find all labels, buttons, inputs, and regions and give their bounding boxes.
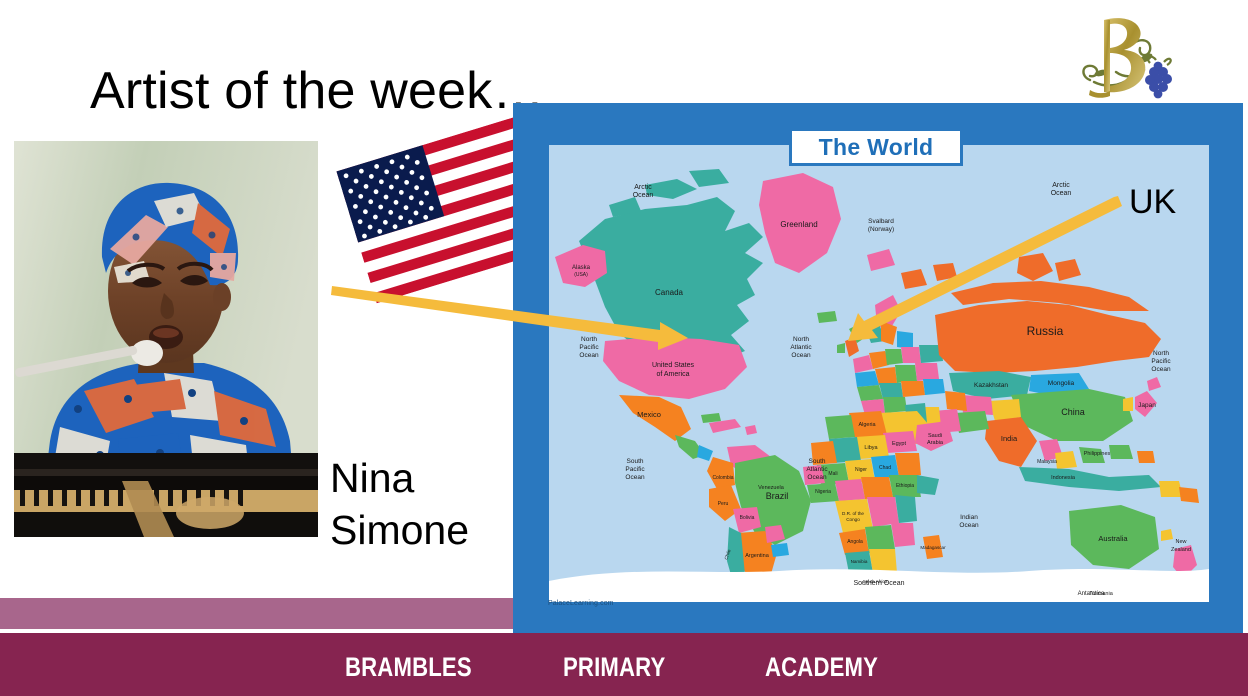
svg-text:Peru: Peru (718, 501, 729, 507)
brambles-logo (1060, 6, 1180, 110)
world-map-image: Arctic Ocean Arctic Ocean Greenland Sval… (549, 145, 1209, 602)
svg-text:North: North (581, 336, 597, 343)
svg-text:Brazil: Brazil (766, 491, 789, 501)
svg-text:(Norway): (Norway) (868, 226, 894, 233)
footer-word-academy: ACADEMY (765, 652, 878, 683)
artist-name: Nina Simone (330, 452, 540, 557)
artist-name-line1: Nina (330, 452, 540, 504)
svg-text:Pacific: Pacific (579, 344, 599, 351)
svg-text:Philippines: Philippines (1084, 451, 1111, 457)
svg-text:Svalbard: Svalbard (868, 218, 894, 225)
svg-text:Arctic: Arctic (634, 184, 652, 191)
artist-photo (14, 141, 318, 537)
svg-text:Atlantic: Atlantic (790, 344, 812, 351)
svg-text:Ocean: Ocean (1051, 190, 1072, 197)
svg-text:Arabia: Arabia (927, 440, 944, 446)
svg-text:Indonesia: Indonesia (1051, 475, 1076, 481)
svg-text:Bolivia: Bolivia (740, 515, 755, 521)
map-title-text: The World (819, 134, 934, 161)
svg-text:Alaska: Alaska (572, 265, 591, 271)
svg-text:Ocean: Ocean (807, 474, 827, 481)
svg-text:Kazakhstan: Kazakhstan (974, 382, 1008, 389)
svg-text:India: India (1001, 434, 1018, 443)
country-botswana (869, 549, 897, 573)
svg-text:North: North (1153, 350, 1169, 357)
svg-text:of America: of America (656, 371, 689, 378)
footer-school-name: BRAMBLES PRIMARY ACADEMY (0, 633, 1248, 696)
bramble-berry-icon (1145, 56, 1172, 98)
slide-canvas: Artist of the week… (0, 0, 1248, 696)
footer-word-primary: PRIMARY (563, 652, 665, 683)
svg-text:Ocean: Ocean (791, 352, 811, 359)
svg-text:Algeria: Algeria (858, 422, 876, 428)
svg-text:North: North (793, 336, 809, 343)
svg-text:Mongolia: Mongolia (1048, 380, 1075, 387)
svg-text:Ocean: Ocean (633, 192, 654, 199)
svg-text:South: South (627, 458, 644, 465)
svg-text:Pacific: Pacific (1151, 358, 1171, 365)
svg-text:Southern Ocean: Southern Ocean (854, 580, 905, 587)
svg-text:Ocean: Ocean (959, 522, 979, 529)
uk-label: UK (1129, 183, 1176, 222)
svg-text:Congo: Congo (846, 517, 860, 522)
svg-text:Australia: Australia (1098, 534, 1128, 543)
artist-name-line2: Simone (330, 504, 540, 556)
svg-text:Arctic: Arctic (1052, 182, 1070, 189)
svg-text:Canada: Canada (655, 288, 684, 297)
footer-word-brambles: BRAMBLES (345, 652, 472, 683)
svg-text:Japan: Japan (1138, 402, 1156, 409)
svg-text:Nigeria: Nigeria (815, 489, 831, 495)
svg-text:Antarctica: Antarctica (1078, 591, 1105, 597)
map-title-badge: The World (789, 128, 963, 166)
svg-text:Egypt: Egypt (892, 441, 907, 447)
page-title: Artist of the week… (90, 62, 545, 120)
footer-accent-band (0, 598, 513, 629)
svg-text:New: New (1175, 539, 1186, 545)
svg-text:Zealand: Zealand (1171, 547, 1191, 553)
svg-text:Ocean: Ocean (625, 474, 645, 481)
svg-text:D.R. of the: D.R. of the (842, 511, 864, 516)
svg-text:Pacific: Pacific (625, 466, 645, 473)
svg-text:Argentina: Argentina (745, 553, 769, 559)
svg-text:(USA): (USA) (574, 272, 588, 278)
svg-text:Chad: Chad (879, 465, 891, 471)
svg-text:Saudi: Saudi (928, 433, 942, 439)
svg-text:Ocean: Ocean (579, 352, 599, 359)
svg-text:Libya: Libya (864, 445, 878, 451)
svg-text:Malaysia: Malaysia (1037, 459, 1057, 465)
svg-text:Mali: Mali (828, 471, 837, 477)
map-credit: PalaceLearning.com (548, 600, 614, 607)
svg-text:Niger: Niger (855, 467, 867, 473)
svg-text:Indian: Indian (960, 514, 978, 521)
svg-text:Madagascar: Madagascar (920, 545, 946, 550)
svg-text:South: South (809, 458, 826, 465)
svg-text:Atlantic: Atlantic (806, 466, 828, 473)
svg-text:Colombia: Colombia (712, 475, 733, 481)
svg-text:United States: United States (652, 362, 695, 369)
svg-text:Greenland: Greenland (780, 220, 817, 229)
svg-text:China: China (1061, 407, 1085, 417)
svg-text:Ocean: Ocean (1151, 366, 1171, 373)
svg-text:Ethiopia: Ethiopia (896, 483, 914, 489)
svg-text:Russia: Russia (1027, 324, 1064, 338)
svg-text:Mexico: Mexico (637, 410, 661, 419)
svg-text:Namibia: Namibia (851, 559, 868, 564)
svg-text:Angola: Angola (847, 539, 863, 545)
